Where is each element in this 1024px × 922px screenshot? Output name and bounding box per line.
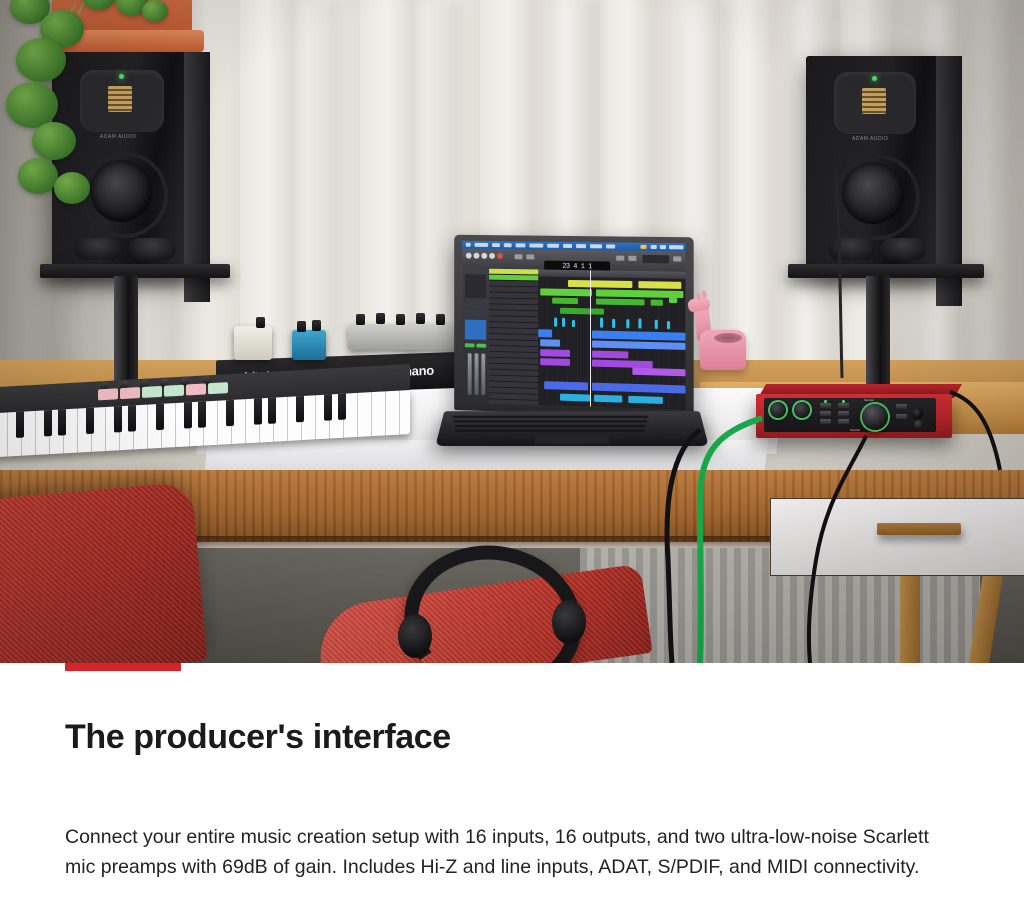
black-cable — [809, 436, 866, 663]
speaker-cable — [836, 170, 842, 378]
product-feature-page: ADAM AUDIO — [0, 0, 1024, 922]
hero-product-photo: ADAM AUDIO — [0, 0, 1024, 663]
feature-text-section: The producer's interface Connect your en… — [0, 663, 1024, 922]
red-chair-backrest — [0, 481, 207, 663]
feature-description: Connect your entire music creation setup… — [65, 822, 951, 882]
green-instrument-cable — [700, 418, 762, 663]
black-cable — [667, 430, 700, 663]
black-cable — [950, 392, 1000, 470]
accent-divider — [65, 663, 181, 671]
page-title: The producer's interface — [65, 718, 451, 757]
headphone-earcup — [552, 600, 586, 644]
headphone-earcup — [398, 614, 432, 658]
